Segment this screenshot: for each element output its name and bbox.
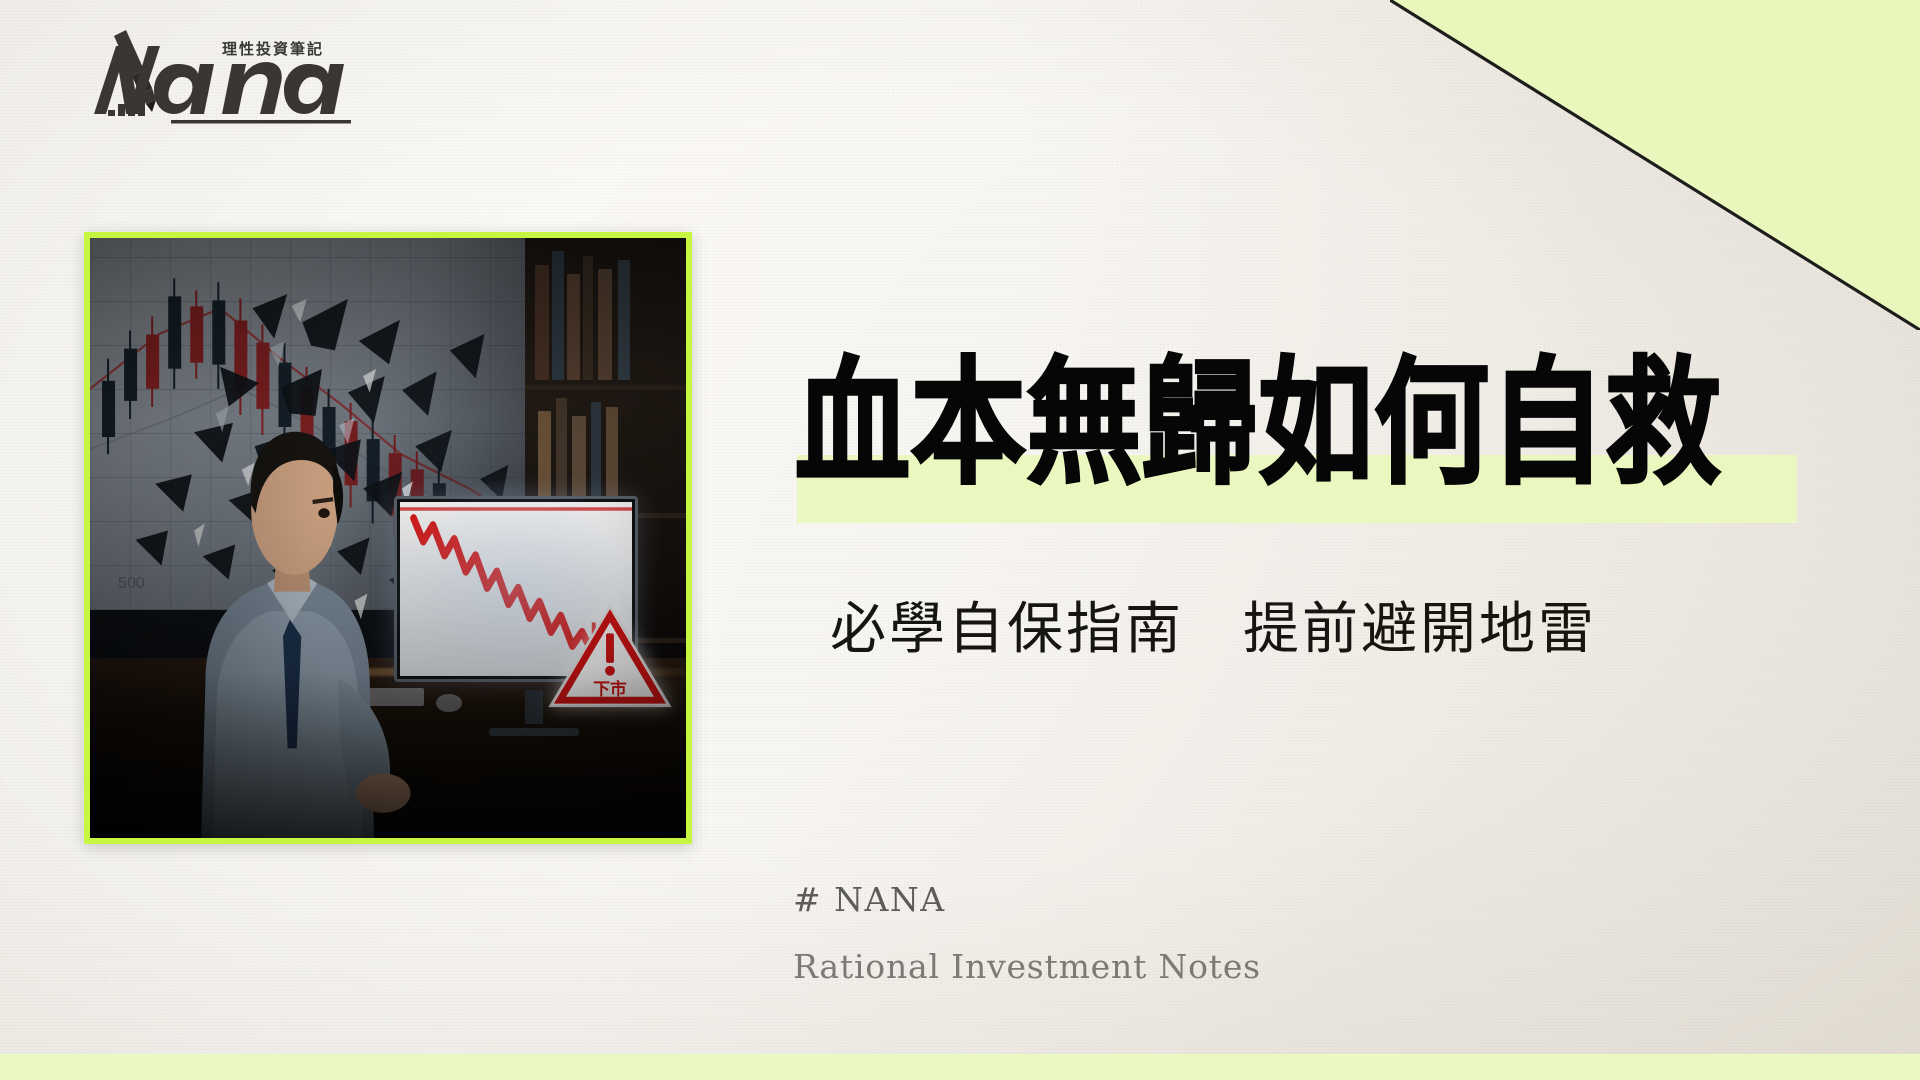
hero-photo-inner: 500 (90, 238, 686, 838)
photo-monitor-stand (525, 690, 543, 724)
page-title: 血本無歸如何自救 (795, 356, 1795, 493)
footer-subtitle: Rational Investment Notes (793, 947, 1261, 986)
photo-warning-sign-icon: 下市 (546, 600, 674, 712)
corner-triangle-decoration (1390, 0, 1920, 330)
photo-person-figure (167, 418, 417, 838)
photo-monitor-base (489, 728, 579, 736)
svg-text:下市: 下市 (593, 678, 627, 698)
bottom-accent-strip (0, 1054, 1920, 1080)
page-subtitle: 必學自保指南 提前避開地雷 (830, 584, 1597, 665)
logo-caption: 理性投資筆記 (222, 38, 324, 59)
headline-block: 血本無歸如何自救 (795, 356, 1805, 536)
hero-photo: 500 (84, 232, 692, 844)
footer-block: # NANA Rational Investment Notes (793, 880, 1261, 986)
footer-hashtag: # NANA (793, 880, 1261, 919)
corner-diagonal-line-icon (1390, 0, 1920, 330)
logo-underline (171, 120, 351, 124)
